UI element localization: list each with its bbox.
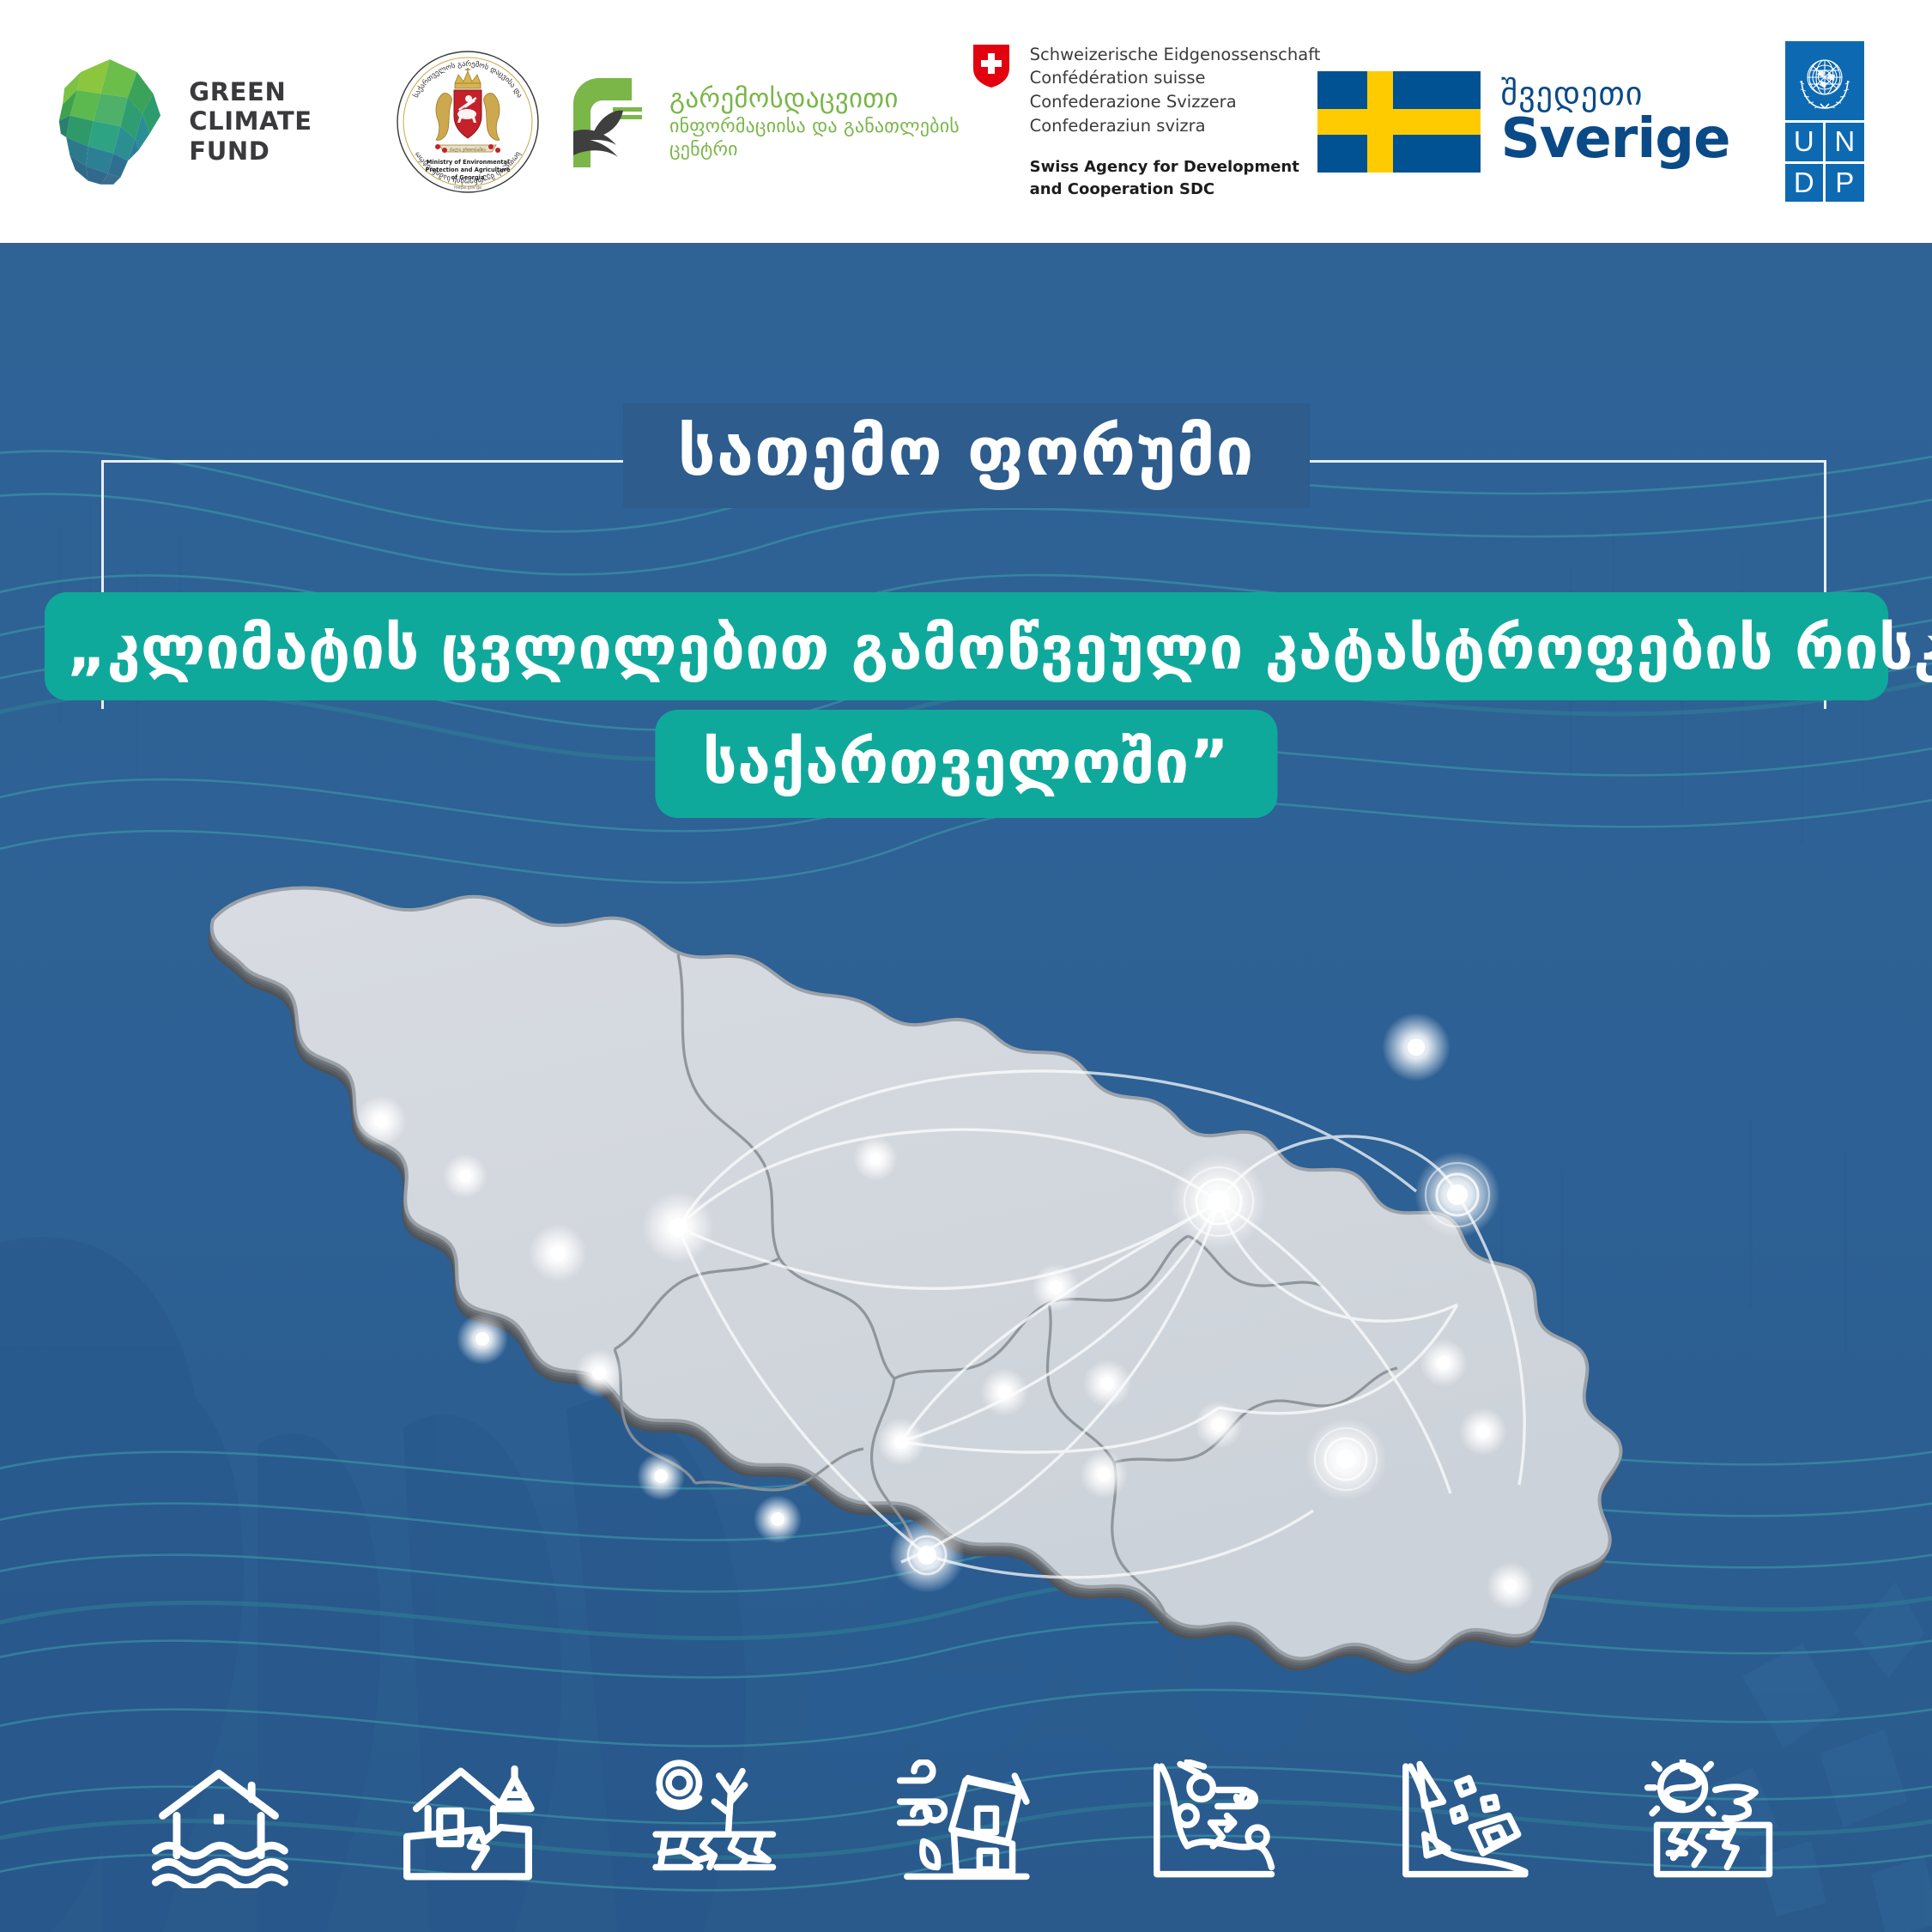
map-city-dot [637,1452,685,1500]
svg-text:mepa.gov.ge: mepa.gov.ge [454,185,481,191]
map-city-dot [1080,1451,1128,1499]
map-city-dot [1032,1263,1080,1311]
gcf-line2: CLIMATE [189,106,312,136]
georgia-map-svg [197,858,1751,1699]
swiss-line-rm: Confederaziun svizra [1030,114,1321,138]
svg-text:of Georgia: of Georgia [451,174,485,181]
undp-letter-n: N [1826,123,1864,161]
map-city-dot [1414,1152,1500,1238]
landslide-icon [1392,1759,1536,1888]
partner-logo-eiec: გარემოსდაცვითი ინფორმაციისა და განათლები… [566,0,961,243]
gcf-line1: GREEN [189,77,312,106]
swiss-line-it: Confederazione Svizzera [1030,90,1321,114]
swiss-agency-line1: Swiss Agency for Development [1030,156,1321,179]
kicker-badge: სათემო ფორუმი [622,403,1309,508]
partner-logo-sweden: შვედეთი Sverige [1330,0,1717,243]
map-city-dot [443,1154,488,1198]
ministry-seal-icon: საქართველოს გარემოს დაცვისა და სოფლის მე… [395,49,541,195]
title-band-line1: „კლიმატის ცვლილებით გამოწვეული კატასტროფ… [45,592,1888,700]
sweden-label-georgian: შვედეთი [1501,77,1730,110]
poster-canvas: სათემო ფორუმი „კლიმატის ცვლილებით გამოწვ… [0,0,1932,1932]
map-city-dot [642,1191,714,1263]
map-city-dot [1382,1013,1451,1081]
swiss-cross-icon [972,43,1011,93]
title-text-line1: „კლიმატის ცვლილებით გამოწვეული კატასტროფ… [67,618,1866,678]
flood-icon [147,1759,291,1888]
svg-text:Protection and Agriculture: Protection and Agriculture [425,167,511,173]
drought-icon [645,1759,789,1888]
map-city-dot [1305,1418,1387,1500]
eiec-book-leaf-icon [568,73,657,171]
map-city-dot [457,1313,508,1365]
kicker-text: სათემო ფორუმი [677,419,1254,486]
partner-logo-bar: GREEN CLIMATE FUND [0,0,1932,243]
map-city-dot [529,1224,587,1282]
map-city-dot [1083,1360,1131,1408]
title-text-line2: საქართველოში” [703,732,1229,792]
partner-logo-gcf: GREEN CLIMATE FUND [0,0,369,243]
heatwave-tornado-icon [1641,1759,1785,1888]
map-city-dot [754,1495,802,1543]
map-city-dot [575,1349,623,1397]
map-city-dot [889,1517,965,1593]
svg-text:ძალა ერთობაშია: ძალა ერთობაშია [450,147,486,153]
map-city-dot [1420,1339,1468,1387]
map-city-dot [853,1136,898,1181]
earthquake-icon [396,1759,540,1888]
georgia-map [197,858,1751,1699]
map-city-dot [980,1368,1028,1416]
gcf-wordmark: GREEN CLIMATE FUND [189,77,312,166]
map-city-dot [877,1418,925,1466]
map-city-dot [1171,1154,1267,1250]
eiec-line1: გარემოსდაცვითი [669,83,960,114]
map-city-dot [1459,1408,1507,1456]
disaster-icon-row [0,1747,1932,1901]
undp-letter-u: U [1785,123,1824,161]
undp-wordmark: U N D P [1785,123,1864,202]
eiec-line2: ინფორმაციისა და განათლების [669,116,960,137]
undp-letter-p: P [1826,164,1864,203]
gcf-line3: FUND [189,136,312,166]
swiss-agency-line2: and Cooperation SDC [1030,179,1321,201]
map-city-dot [355,1095,407,1147]
sweden-flag-icon [1317,71,1481,173]
map-city-dot [1487,1562,1535,1610]
svg-text:Ministry of Environmental: Ministry of Environmental [427,159,510,166]
windstorm-icon [893,1759,1038,1888]
partner-logo-swiss: Schweizerische Eidgenossenschaft Confédé… [961,0,1330,243]
avalanche-icon [1143,1759,1287,1888]
un-emblem-icon [1785,41,1864,120]
sweden-label-english: Sverige [1501,112,1730,167]
partner-logo-ministry: საქართველოს გარემოს დაცვისა და სოფლის მე… [369,0,566,243]
map-city-dot [1195,1401,1243,1449]
swiss-line-de: Schweizerische Eidgenossenschaft [1030,43,1321,67]
eiec-line3: ცენტრი [669,139,960,160]
undp-letter-d: D [1785,164,1824,203]
partner-logo-undp: U N D P [1717,0,1932,243]
gcf-sphere-icon [57,58,167,186]
title-band-line2: საქართველოში” [655,710,1277,818]
swiss-line-fr: Confédération suisse [1030,66,1321,90]
